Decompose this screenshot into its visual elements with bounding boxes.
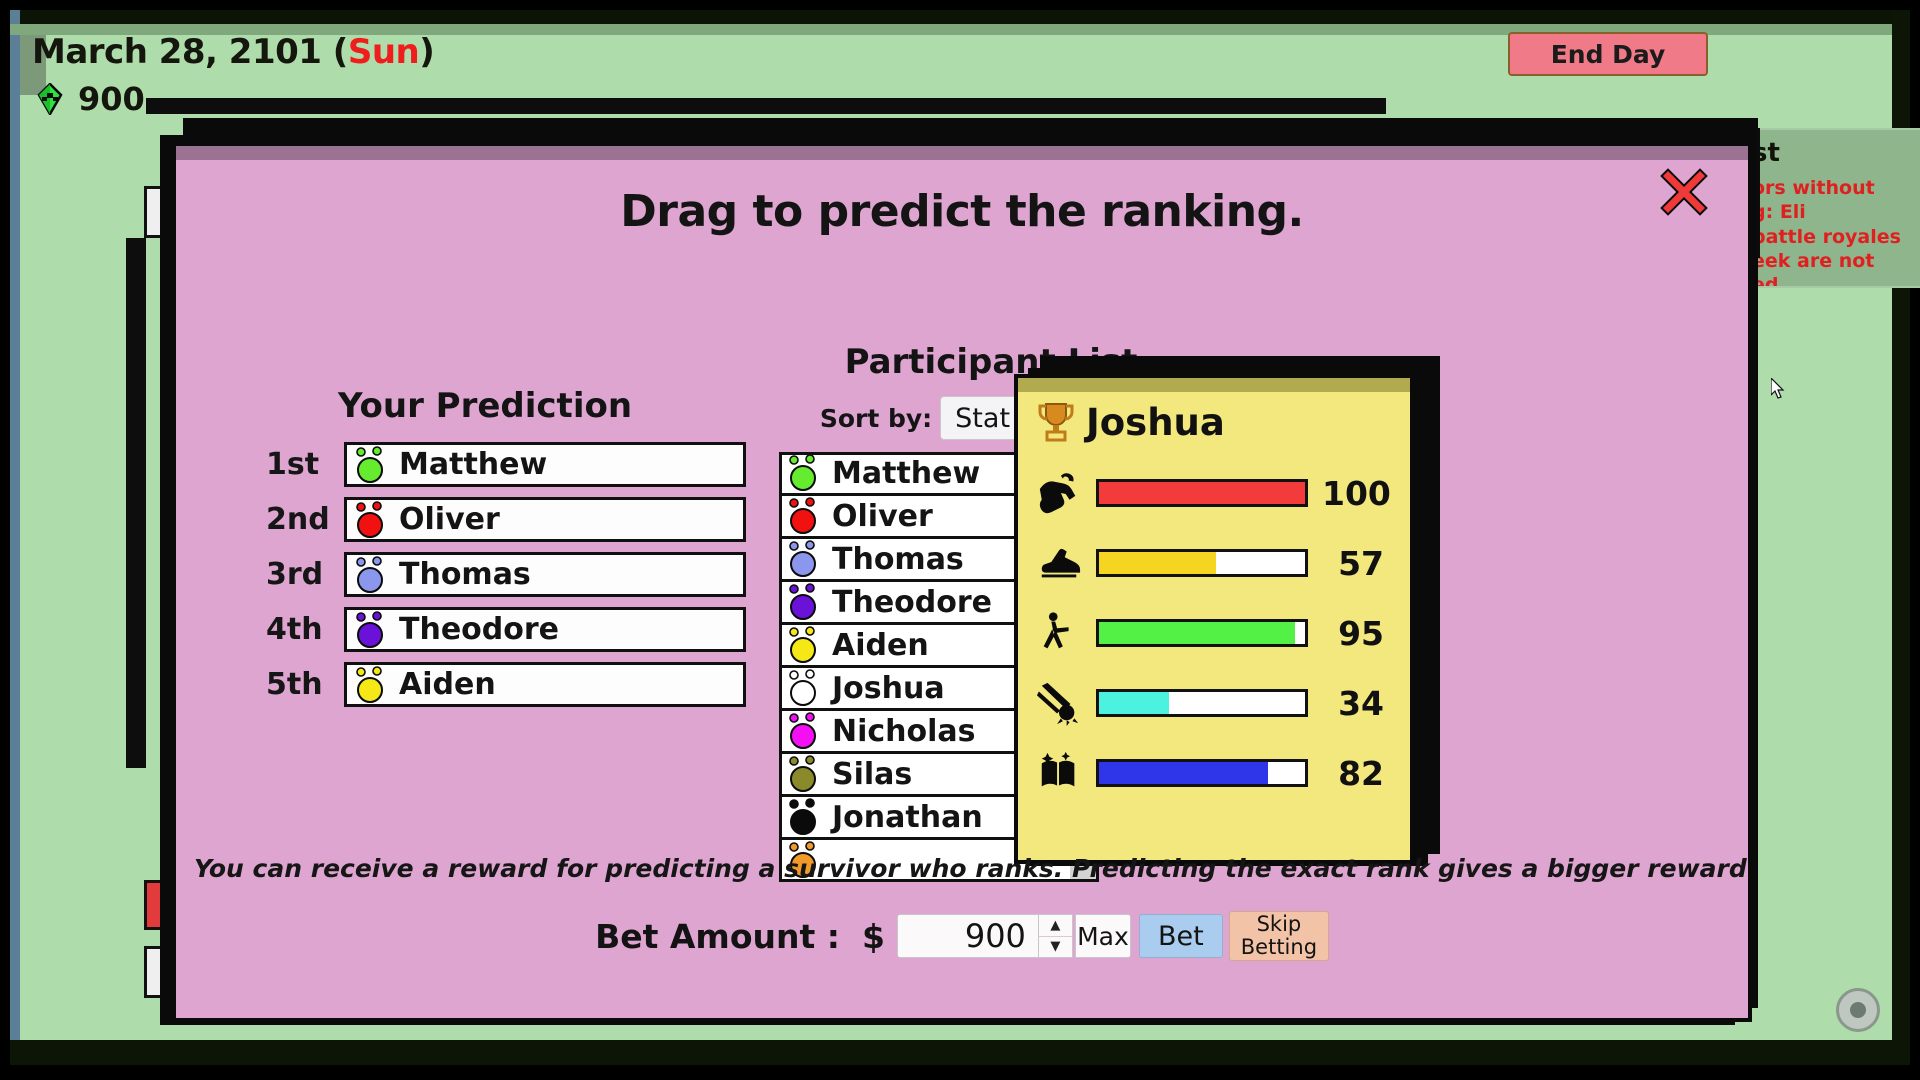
character-stat-value: 34 <box>1322 684 1384 723</box>
prediction-slot-name: Theodore <box>399 612 559 647</box>
character-stat-row: 57 <box>1036 540 1390 586</box>
bet-amount-stepper[interactable]: ▲ ▼ <box>1039 914 1073 958</box>
participant-name: Matthew <box>832 456 980 491</box>
character-token-icon <box>355 501 389 539</box>
strength-icon <box>1036 470 1082 516</box>
character-stat-bar <box>1096 689 1308 717</box>
corner-knob-center <box>1850 1002 1866 1018</box>
stepper-up-icon[interactable]: ▲ <box>1039 915 1072 937</box>
character-stat-row: 100 <box>1036 470 1390 516</box>
knowledge-icon <box>1036 750 1082 796</box>
character-card-title-bar <box>1018 378 1410 392</box>
participant-name: Silas <box>832 757 912 792</box>
prediction-rank-label: 5th <box>266 667 344 702</box>
prediction-rank-label: 1st <box>266 447 344 482</box>
end-day-button[interactable]: End Day <box>1508 32 1708 76</box>
prediction-rank-label: 4th <box>266 612 344 647</box>
bet-row: Bet Amount : $ 900 ▲ ▼ Max Bet Skip Bett… <box>176 911 1748 961</box>
trophy-icon <box>1036 400 1076 444</box>
character-token-icon <box>788 583 822 621</box>
participant-name: Jonathan <box>832 800 983 835</box>
character-stat-bar-fill <box>1099 482 1305 504</box>
character-token-icon <box>788 669 822 707</box>
reward-hint-text: You can receive a reward for predicting … <box>194 854 1730 883</box>
prediction-slot-content[interactable]: Oliver <box>344 497 746 542</box>
character-token-icon <box>788 626 822 664</box>
date-display: March 28, 2101 (Sun) <box>32 32 434 72</box>
character-stat-bar <box>1096 759 1308 787</box>
background-side-panel[interactable]: st ors without g: Eli battle royales eek… <box>1740 128 1920 288</box>
character-stat-row: 34 <box>1036 680 1390 726</box>
side-panel-body: ors without g: Eli battle royales eek ar… <box>1752 176 1918 288</box>
character-stat-bar-fill <box>1099 622 1295 644</box>
prediction-slot-name: Oliver <box>399 502 500 537</box>
stepper-down-icon[interactable]: ▼ <box>1039 937 1072 958</box>
character-stat-bar-fill <box>1099 552 1216 574</box>
skip-label-line-1: Skip <box>1257 913 1302 936</box>
prediction-slot-list: 1stMatthew2ndOliver3rdThomas4thTheodore5… <box>266 442 746 707</box>
prediction-slot-name: Aiden <box>399 667 496 702</box>
participant-name: Thomas <box>832 542 964 577</box>
character-stat-value: 57 <box>1322 544 1384 583</box>
prediction-rank-label: 3rd <box>266 557 344 592</box>
background-window-left-strip <box>126 238 146 768</box>
bet-amount-label: Bet Amount : <box>595 917 840 956</box>
currency-symbol: $ <box>862 917 885 956</box>
your-prediction-title: Your Prediction <box>338 386 746 426</box>
character-token-icon <box>355 556 389 594</box>
participant-name: Oliver <box>832 499 933 534</box>
frame-left-edge <box>10 10 20 1065</box>
character-stat-bar-fill <box>1099 762 1268 784</box>
character-stat-value: 82 <box>1322 754 1384 793</box>
character-token-icon <box>788 540 822 578</box>
combat-icon <box>1036 610 1082 656</box>
character-detail-card: Joshua 10057953482 <box>1014 374 1414 864</box>
gem-icon <box>36 83 64 115</box>
prediction-slot[interactable]: 2ndOliver <box>266 497 746 542</box>
prediction-rank-label: 2nd <box>266 502 344 537</box>
money-display: 900 <box>36 80 145 118</box>
place-bet-button[interactable]: Bet <box>1139 914 1223 958</box>
participant-name: Theodore <box>832 585 992 620</box>
character-token-icon <box>788 712 822 750</box>
character-stat-bar <box>1096 549 1308 577</box>
max-bet-button[interactable]: Max <box>1075 914 1131 958</box>
skip-label-line-2: Betting <box>1241 936 1317 959</box>
character-name: Joshua <box>1086 401 1225 444</box>
background-window-top <box>146 98 1386 114</box>
participant-name: Joshua <box>832 671 945 706</box>
character-token-icon <box>788 454 822 492</box>
prediction-slot[interactable]: 3rdThomas <box>266 552 746 597</box>
sort-by-label: Sort by: <box>820 404 932 433</box>
your-prediction-panel: Your Prediction 1stMatthew2ndOliver3rdTh… <box>266 386 746 717</box>
participant-name: Nicholas <box>832 714 976 749</box>
prediction-slot[interactable]: 4thTheodore <box>266 607 746 652</box>
prediction-slot-name: Matthew <box>399 447 547 482</box>
weapon-icon <box>1036 680 1082 726</box>
skip-betting-button[interactable]: Skip Betting <box>1229 911 1329 961</box>
speed-icon <box>1036 540 1082 586</box>
character-token-icon <box>355 611 389 649</box>
prediction-slot-content[interactable]: Aiden <box>344 662 746 707</box>
frame-bottom-edge <box>10 1040 1910 1065</box>
modal-title: Drag to predict the ranking. <box>176 186 1748 237</box>
character-stat-value: 100 <box>1322 474 1390 513</box>
character-stat-row: 82 <box>1036 750 1390 796</box>
prediction-slot-content[interactable]: Thomas <box>344 552 746 597</box>
character-token-icon <box>355 446 389 484</box>
date-close-paren: ) <box>419 32 434 72</box>
prediction-slot-name: Thomas <box>399 557 531 592</box>
prediction-slot-content[interactable]: Matthew <box>344 442 746 487</box>
prediction-slot[interactable]: 5thAiden <box>266 662 746 707</box>
character-stat-bar <box>1096 479 1308 507</box>
day-of-week: Sun <box>348 32 419 72</box>
character-stat-bar-fill <box>1099 692 1169 714</box>
frame-top-edge <box>20 10 1910 24</box>
prediction-modal: Drag to predict the ranking. Your Predic… <box>172 142 1752 1022</box>
bet-amount-input[interactable]: 900 <box>897 914 1039 958</box>
money-value: 900 <box>78 80 145 118</box>
character-token-icon <box>788 497 822 535</box>
character-stat-bar <box>1096 619 1308 647</box>
character-token-icon <box>788 755 822 793</box>
character-token-icon <box>355 666 389 704</box>
participant-name: Aiden <box>832 628 929 663</box>
side-panel-title: st <box>1752 138 1918 168</box>
game-screen: March 28, 2101 (Sun) 900 End Day st ors … <box>0 0 1920 1080</box>
prediction-slot-content[interactable]: Theodore <box>344 607 746 652</box>
date-text: March 28, 2101 ( <box>32 32 348 72</box>
mouse-cursor <box>1771 378 1785 400</box>
character-stat-value: 95 <box>1322 614 1384 653</box>
character-token-icon <box>788 798 822 836</box>
modal-title-bar <box>176 146 1748 160</box>
character-stat-list: 10057953482 <box>1018 470 1410 796</box>
character-stat-row: 95 <box>1036 610 1390 656</box>
corner-knob-widget[interactable] <box>1836 988 1880 1032</box>
prediction-slot[interactable]: 1stMatthew <box>266 442 746 487</box>
close-icon[interactable] <box>1660 168 1708 216</box>
